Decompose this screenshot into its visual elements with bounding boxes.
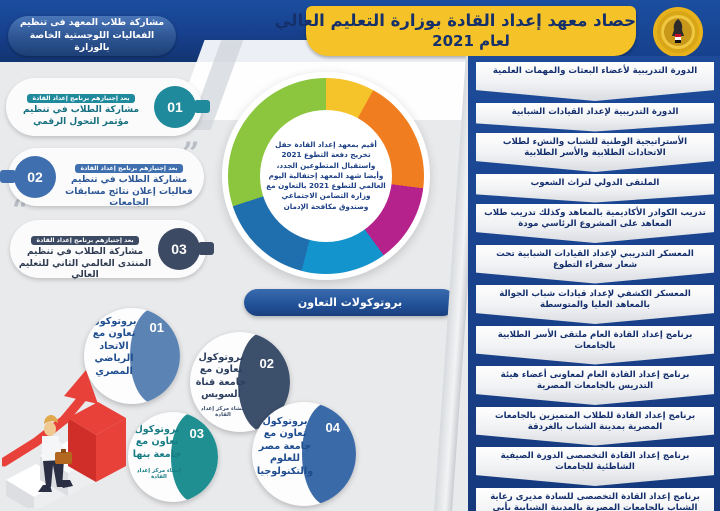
protocol-item-4[interactable]: 04 بروتوكول تعاون مع جامعة مصر للعلوم وا… — [252, 402, 356, 506]
right-item-8[interactable]: برنامج إعداد القادة العام ملتقى الأسر ال… — [476, 326, 714, 365]
left-item-1-number: 01 — [154, 86, 196, 128]
left-item-1-subtitle: بعد إجتيازهم برنامج إعداد القادة — [27, 94, 134, 103]
protocol-3-number: 03 — [190, 426, 204, 441]
left-section-title: مشاركة طلاب المعهد فى تنظيم الفعاليات ال… — [8, 16, 176, 56]
protocol-1-number: 01 — [150, 320, 164, 335]
protocol-3-text: بروتوكول تعاون مع جامعة بنها — [132, 424, 182, 461]
page-title-line1: حصاد معهد إعداد القادة بوزارة التعليم ال… — [306, 11, 636, 30]
left-item-3-text: مشاركة الطلاب في تنظيم المنتدى العالمي ا… — [18, 247, 152, 282]
right-item-6-text: المعسكر التدريبي لإعداد القيادات الشبابي… — [476, 245, 714, 272]
right-item-9[interactable]: برنامج إعداد القادة العام لمعاونى أعضاء … — [476, 366, 714, 405]
right-item-7-text: المعسكر الكشفي لإعداد قيادات شباب الجوال… — [476, 285, 714, 312]
right-item-4-text: الملتقى الدولي لتراث الشعوب — [523, 174, 668, 189]
protocol-3-subtitle: إنشاء مركز إعداد القادة — [134, 468, 184, 480]
left-item-3-subtitle: بعد إجتيازهم برنامج إعداد القادة — [31, 236, 138, 245]
right-item-10[interactable]: برنامج إعداد القادة للطلاب المتميزين بال… — [476, 407, 714, 446]
left-item-1[interactable]: 01 بعد إجتيازهم برنامج إعداد القادة مشار… — [6, 78, 202, 136]
left-section-title-text: مشاركة طلاب المعهد فى تنظيم الفعاليات ال… — [16, 17, 168, 54]
page-title: حصاد معهد إعداد القادة بوزارة التعليم ال… — [306, 6, 636, 56]
right-item-2[interactable]: الدورة التدريبية لإعداد القيادات الشبابي… — [476, 103, 714, 132]
page-title-line2: لعام 2021 — [306, 32, 636, 50]
right-panel: الدورة التدريبية لأعضاء البعثات والمهمات… — [468, 56, 720, 511]
right-item-1[interactable]: الدورة التدريبية لأعضاء البعثات والمهمات… — [476, 62, 714, 101]
right-item-3[interactable]: الأستراتيجية الوطنية للشباب والنشء لطلاب… — [476, 133, 714, 172]
donut-center-text: أقيم بمعهد إعداد القادة حفل تخريج دفعة ا… — [260, 140, 392, 212]
right-item-5-text: تدريب الكوادر الأكاديمية بالمعاهد وكذلك … — [476, 204, 714, 231]
infographic-page: حصاد معهد إعداد القادة بوزارة التعليم ال… — [0, 0, 720, 511]
right-item-6[interactable]: المعسكر التدريبي لإعداد القيادات الشبابي… — [476, 245, 714, 284]
right-item-12[interactable]: برنامج إعداد القادة التخصصى للسادة مديرى… — [476, 488, 714, 511]
left-item-2[interactable]: 02 بعد إجتيازهم برنامج إعداد القادة مشار… — [8, 148, 204, 206]
ministry-eagle-seal-icon — [652, 6, 704, 58]
right-item-7[interactable]: المعسكر الكشفي لإعداد قيادات شباب الجوال… — [476, 285, 714, 324]
left-item-2-subtitle: بعد إجتيازهم برنامج إعداد القادة — [75, 164, 182, 173]
right-item-10-text: برنامج إعداد القادة للطلاب المتميزين بال… — [476, 407, 714, 434]
right-item-1-text: الدورة التدريبية لأعضاء البعثات والمهمات… — [485, 62, 705, 77]
right-item-2-text: الدورة التدريبية لإعداد القيادات الشبابي… — [504, 103, 687, 118]
left-item-3-tab — [198, 242, 214, 255]
protocol-2-number: 02 — [260, 356, 274, 371]
protocol-4-text: بروتوكول تعاون مع جامعة مصر للعلوم والتك… — [256, 416, 314, 478]
right-item-11-text: برنامج إعداد القادة التخصصى الدورة الصيف… — [476, 447, 714, 474]
protocols-title: بروتوكولات التعاون — [244, 289, 456, 316]
right-item-11[interactable]: برنامج إعداد القادة التخصصى الدورة الصيف… — [476, 447, 714, 486]
left-item-1-tab — [194, 100, 210, 113]
right-item-5[interactable]: تدريب الكوادر الأكاديمية بالمعاهد وكذلك … — [476, 204, 714, 243]
left-item-1-text: مشاركة الطلاب في تنظيم مؤتمر التحول الرق… — [14, 105, 148, 128]
right-item-9-text: برنامج إعداد القادة العام لمعاونى أعضاء … — [476, 366, 714, 393]
left-item-2-text: مشاركة الطلاب في تنظيم فعاليات إعلان نتا… — [62, 175, 196, 210]
right-item-12-text: برنامج إعداد القادة التخصصى للسادة مديرى… — [476, 488, 714, 511]
left-item-3[interactable]: 03 بعد إجتيازهم برنامج إعداد القادة مشار… — [10, 220, 206, 278]
businessman-growth-illustration — [2, 330, 128, 508]
left-item-3-number: 03 — [158, 228, 200, 270]
protocol-item-3[interactable]: 03 بروتوكول تعاون مع جامعة بنها إنشاء مر… — [128, 412, 218, 502]
right-item-3-text: الأستراتيجية الوطنية للشباب والنشء لطلاب… — [476, 133, 714, 160]
protocols-title-text: بروتوكولات التعاون — [298, 296, 402, 309]
right-item-4[interactable]: الملتقى الدولي لتراث الشعوب — [476, 174, 714, 203]
protocol-4-number: 04 — [326, 420, 340, 435]
donut-center-label: أقيم بمعهد إعداد القادة حفل تخريج دفعة ا… — [260, 110, 392, 242]
right-item-8-text: برنامج إعداد القادة العام ملتقى الأسر ال… — [476, 326, 714, 353]
left-item-2-number: 02 — [14, 156, 56, 198]
protocol-2-text: بروتوكول تعاون مع جامعة قناة السويس — [194, 352, 248, 402]
